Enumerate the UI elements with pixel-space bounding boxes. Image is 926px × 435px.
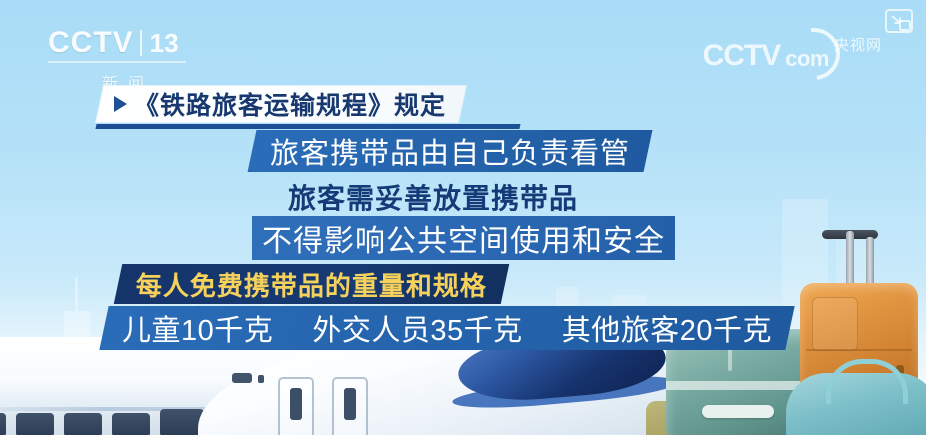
- picture-in-picture-icon[interactable]: [884, 8, 914, 34]
- rule-line-1-text: 旅客携带品由自己负责看管: [270, 130, 630, 172]
- train-headlamp: [232, 373, 252, 383]
- broadcast-frame: CCTV 13 新闻 CCTV com 央视网 《铁路旅客运输规程》规定 旅客携…: [0, 0, 926, 435]
- train-window: [112, 413, 150, 435]
- rule-line-2-text: 旅客需妥善放置携带品: [288, 177, 578, 217]
- channel-number: 13: [140, 30, 179, 56]
- teal-duffel-bag: [786, 373, 926, 435]
- suitcase-handle-rod: [846, 231, 854, 287]
- cctv13-channel-logo: CCTV 13 新闻: [48, 28, 208, 86]
- headline-underline: [95, 124, 520, 129]
- suitcase-handle-rod: [866, 237, 874, 287]
- train-window: [64, 413, 102, 435]
- watermark-chinese-text: 央视网: [834, 38, 882, 53]
- allowance-diplomats: 外交人员35千克: [312, 315, 522, 347]
- allowance-children: 儿童10千克: [122, 315, 273, 347]
- train-window: [0, 413, 6, 435]
- rule-line-3-text: 不得影响公共空间使用和安全: [262, 216, 665, 260]
- rule-line-4-banner: 每人免费携带品的重量和规格: [114, 264, 510, 304]
- headline-banner: 《铁路旅客运输规程》规定: [96, 86, 466, 122]
- rule-line-1-banner: 旅客携带品由自己负责看管: [248, 130, 653, 172]
- logo-divider: [48, 61, 186, 63]
- train-door: [278, 377, 314, 435]
- headline-text: 《铁路旅客运输规程》规定: [134, 86, 446, 122]
- rule-line-3-banner: 不得影响公共空间使用和安全: [252, 216, 675, 260]
- allowance-other: 其他旅客20千克: [562, 315, 772, 347]
- rule-line-2-banner: 旅客需妥善放置携带品: [288, 178, 578, 216]
- cctv-wordmark: CCTV: [48, 28, 134, 58]
- train-window: [16, 413, 54, 435]
- rule-line-4-text: 每人免费携带品的重量和规格: [136, 266, 487, 303]
- train-marker-lamp: [258, 375, 264, 383]
- triangle-play-icon: [114, 96, 127, 112]
- watermark-com-text: com: [785, 49, 829, 69]
- cctv-com-watermark: CCTV com 央视网: [703, 38, 882, 69]
- train-door: [332, 377, 368, 435]
- watermark-cctv-text: CCTV: [703, 42, 781, 69]
- allowance-banner: 儿童10千克 外交人员35千克 其他旅客20千克: [99, 306, 794, 350]
